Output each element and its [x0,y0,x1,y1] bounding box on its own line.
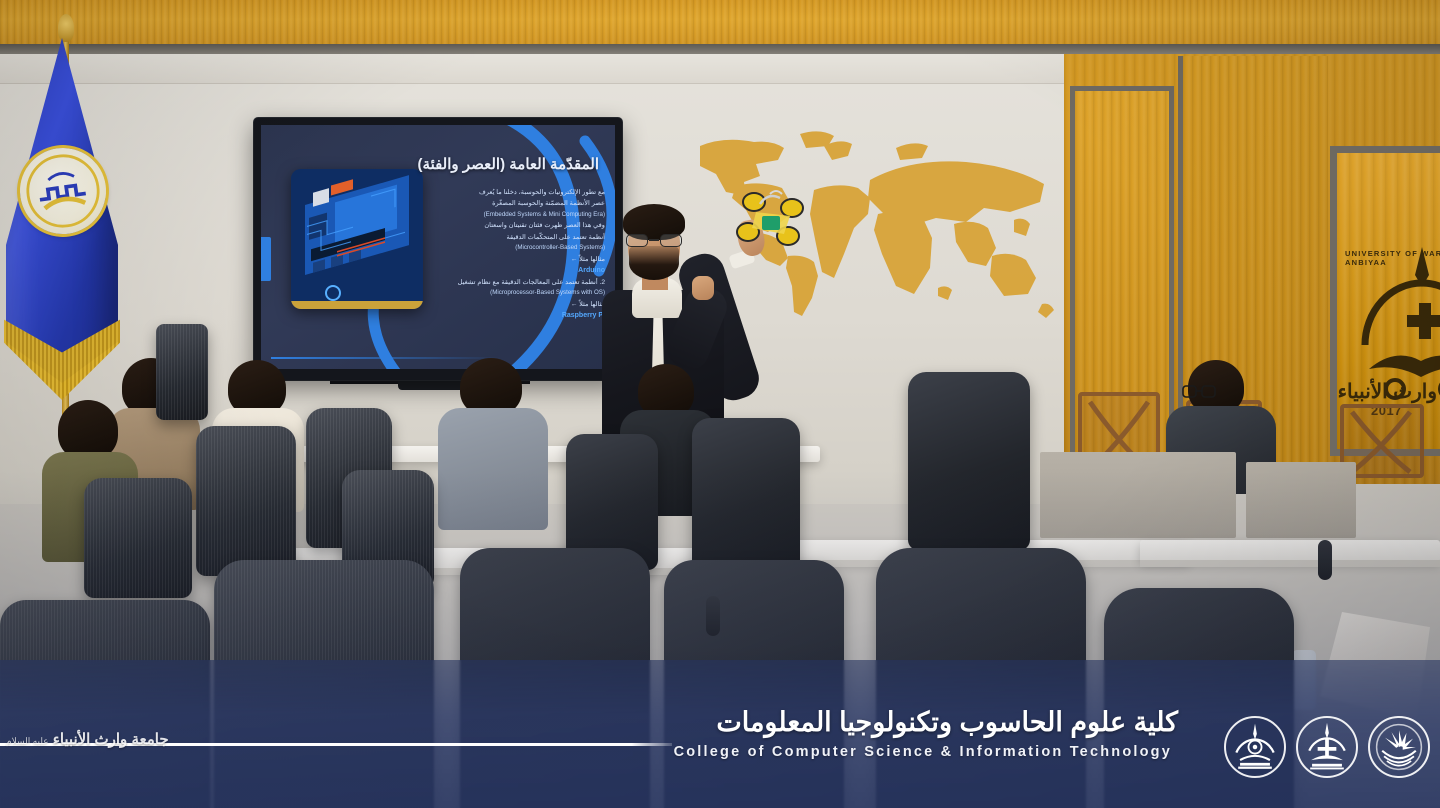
college-logo-3-icon [1371,719,1427,775]
chair-back-7[interactable] [692,418,800,578]
slide-line-4: أنظمة تعتمد على المتحكّمات الدقيقة [367,232,605,243]
flag-emblem-icon [21,149,105,233]
presentation-display: المقدّمة العامة (العصر والفئة) مع تطور ا… [254,118,622,380]
footer-banner: جامعة وارث الأنبياء عليه السلام كلية علو… [0,660,1440,808]
desk-right [1140,540,1440,562]
university-logo-2-icon [1299,719,1355,775]
slide-title: المقدّمة العامة (العصر والفئة) [349,155,599,173]
desk-partition-1 [1040,452,1236,538]
watermark-suffix: عليه السلام [6,736,49,746]
chair-back-3[interactable] [196,426,296,576]
chair-back-1[interactable] [156,324,208,420]
head [58,400,118,460]
slide-line-11: Raspberry Pi [367,310,605,322]
slide-line-8: 2. أنظمة تعتمد على المعالجات الدقيقة مع … [367,277,605,288]
slide-line-1: عصر الأنظمة المضمّنة والحوسبة المصغّرة [367,198,605,209]
presenter-left-hand [692,276,714,300]
slide-line-9: (Microprocessor-Based Systems with OS) [367,288,605,299]
footer-arabic-title: كلية علوم الحاسوب وتكنولوجيا المعلومات [716,707,1178,738]
desk-edge-right [1140,560,1440,567]
desk-partition-2 [1246,462,1356,538]
university-logo-1-icon [1227,719,1283,775]
presenter-beard [629,246,679,280]
footer-logo-group [1224,716,1430,778]
plaque-ring-text: UNIVERSITY OF WARITH AL-ANBIYAA [1345,249,1440,399]
slide-line-0: مع تطور الإلكترونيات والحوسبة، دخلنا ما … [367,187,605,198]
presenter-glasses-icon [625,234,683,247]
slide-line-10: مثالها مثلاً ← [367,299,605,310]
slide-line-2: (Embedded Systems & Mini Computing Era) [367,210,605,221]
slide-line-6: مثالها مثلاً ← [367,254,605,265]
footer-logo-2 [1296,716,1358,778]
robot-car-kit [734,186,812,258]
ceiling-wood-panel [0,0,1440,48]
slide-body-text: مع تطور الإلكترونيات والحوسبة، دخلنا ما … [367,187,605,322]
slide-screen: المقدّمة العامة (العصر والفئة) مع تطور ا… [261,125,615,369]
glasses-icon [1182,384,1216,400]
plaque-arabic-text: وارث الأنبياء [1338,379,1437,404]
student-back-3 [438,358,548,528]
watermark-university: جامعة وارث الأنبياء عليه السلام [6,730,169,748]
slide-line-5: (Microcontroller-Based Systems) [367,243,605,254]
footer-english-title: College of Computer Science & Informatio… [674,744,1172,760]
chair-back-4[interactable] [84,478,192,598]
footer-logo-1 [1224,716,1286,778]
torso [438,408,548,530]
flag-finial [58,14,74,42]
slide-line-7: Arduino [367,265,605,277]
footer-logo-3 [1368,716,1430,778]
slide-line-3: وفي هذا العصر ظهرت فئتان تقنيتان واسعتان [367,220,605,231]
chair-armrest [706,596,720,636]
chair-right-1[interactable] [908,372,1030,550]
slide-side-tab [261,237,271,281]
chair-armrest-2 [1318,540,1332,580]
photo-scene: UNIVERSITY OF WARITH AL-ANBIYAA 2017 وار… [0,0,1440,808]
watermark-arabic: جامعة وارث الأنبياء [53,731,169,748]
